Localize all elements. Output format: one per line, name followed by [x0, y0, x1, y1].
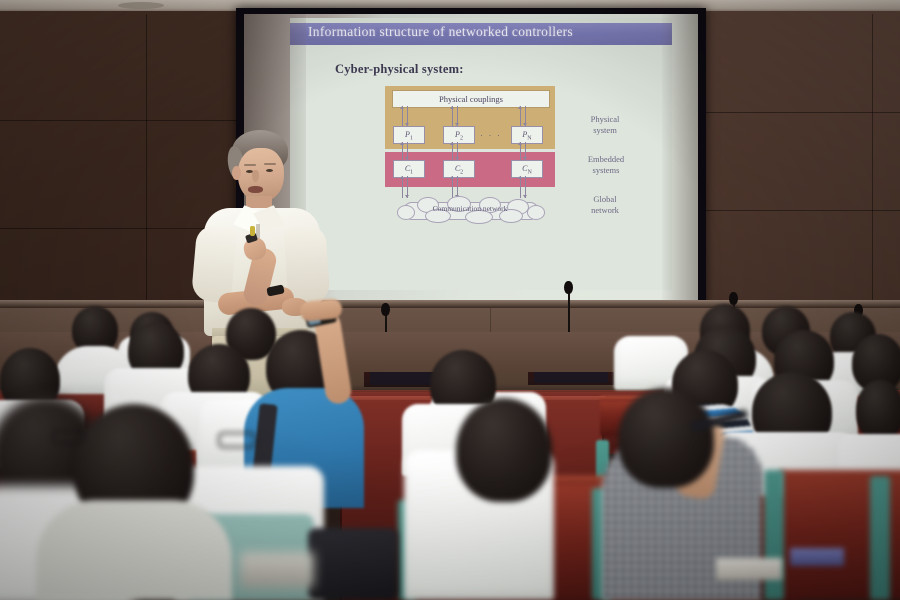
ellipsis-physical: · · ·: [480, 130, 502, 140]
audience-head: [456, 398, 552, 502]
book: [790, 548, 844, 566]
audience-shoulders: [36, 500, 232, 600]
ceiling-vent: [118, 2, 164, 9]
cyber-physical-diagram: Physical couplings: [375, 86, 570, 236]
arrow-pair-p2: [451, 106, 461, 126]
screen-dim-area-right: [662, 14, 698, 307]
wall-seam: [700, 112, 900, 113]
wall-seam: [700, 210, 900, 211]
wall-seam: [872, 14, 873, 340]
audience-head: [856, 380, 900, 440]
communication-network-cloud: Communication network: [395, 196, 545, 222]
chair-frame-teal: [870, 476, 890, 600]
side-label-global-network: Global network: [575, 194, 635, 216]
lower-wall-trim: [0, 300, 900, 308]
eyeglasses: [52, 430, 84, 444]
notebook: [240, 552, 314, 588]
arrow-pair-c1net: [401, 176, 411, 198]
presenter-brow-left: [244, 164, 256, 166]
presenter-brow-right: [264, 163, 276, 165]
presenter-pen: [250, 226, 255, 236]
side-label-physical-system: Physical system: [575, 114, 635, 136]
communication-network-label: Communication network: [395, 204, 545, 213]
arrow-pair-p1c1: [401, 142, 411, 160]
chair-frame-teal: [764, 470, 784, 600]
arrow-pair-pncn: [519, 142, 529, 160]
microphone-head-1: [381, 303, 390, 316]
presenter-face: [238, 148, 284, 202]
arrow-pair-pn: [519, 106, 529, 126]
backpack: [308, 528, 398, 600]
presenter-nose: [252, 170, 259, 182]
notebook: [716, 558, 782, 580]
wall-panel-right: [700, 11, 900, 341]
eyeglasses: [218, 432, 256, 448]
arrow-pair-cnnet: [519, 176, 529, 198]
side-label-embedded-systems: Embedded systems: [575, 154, 637, 176]
arrow-pair-c2net: [451, 176, 461, 198]
presenter-ear: [232, 166, 241, 180]
presenter-mouth: [248, 186, 263, 193]
lecture-hall-photo: Information structure of networked contr…: [0, 0, 900, 600]
slide-heading: Cyber-physical system:: [335, 62, 464, 77]
microphone-head-2: [564, 281, 573, 294]
wall-seam: [0, 120, 252, 121]
slide-title: Information structure of networked contr…: [308, 24, 573, 40]
presentation-slide: Information structure of networked contr…: [290, 18, 672, 290]
arrow-pair-p2c2: [451, 142, 461, 160]
presenter-eye-right: [266, 169, 273, 172]
microphone-head-3: [729, 292, 738, 305]
physical-couplings-label: Physical couplings: [393, 91, 549, 107]
audience-head: [618, 388, 714, 488]
wall-seam: [146, 14, 147, 340]
arrow-pair-p1: [401, 106, 411, 126]
